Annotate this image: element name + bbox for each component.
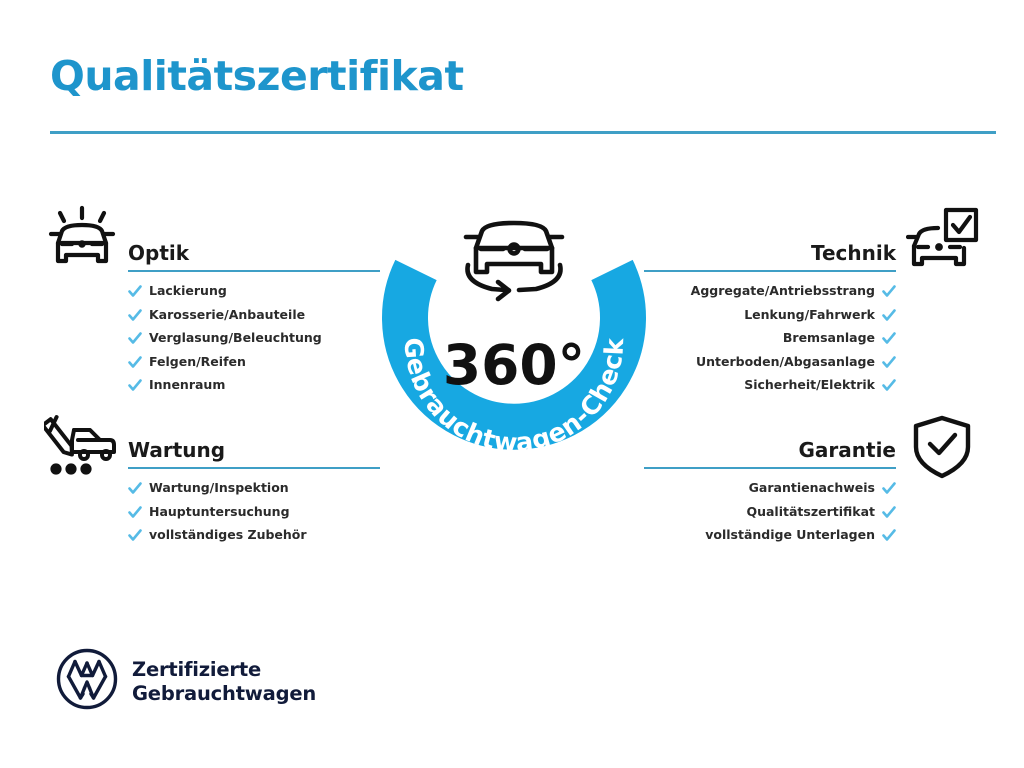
check-icon xyxy=(882,285,896,298)
checklist-item: Bremsanlage xyxy=(644,332,896,345)
checklist-item: vollständiges Zubehör xyxy=(128,529,380,542)
check-icon xyxy=(128,332,142,345)
shield-check-icon xyxy=(910,414,974,485)
check-icon xyxy=(882,482,896,495)
check-icon xyxy=(128,285,142,298)
checklist-item: Garantienachweis xyxy=(644,482,896,495)
qualitaetszertifikat-page: Qualitätszertifikat xyxy=(0,0,1024,768)
checklist-item: Karosserie/Anbauteile xyxy=(128,309,380,322)
check-icon xyxy=(128,482,142,495)
checklist-item: Aggregate/Antriebsstrang xyxy=(644,285,896,298)
checklist-item-label: vollständiges Zubehör xyxy=(149,529,307,542)
header-divider xyxy=(50,131,996,134)
section-heading-technik: Technik xyxy=(644,243,896,264)
checklist-item: Wartung/Inspektion xyxy=(128,482,380,495)
section-optik: Optik LackierungKarosserie/AnbauteileVer… xyxy=(128,243,380,403)
footer-branding: Zertifizierte Gebrauchtwagen xyxy=(56,648,316,715)
checklist-item-label: Garantienachweis xyxy=(749,482,875,495)
section-divider-garantie xyxy=(644,467,896,469)
checklist-item-label: Aggregate/Antriebsstrang xyxy=(691,285,875,298)
footer-line-2: Gebrauchtwagen xyxy=(132,682,316,706)
check-icon xyxy=(128,529,142,542)
section-garantie: Garantie GarantienachweisQualitätszertif… xyxy=(644,440,896,553)
car-checkbox-icon xyxy=(906,204,980,279)
check-icon xyxy=(128,309,142,322)
section-divider-technik xyxy=(644,270,896,272)
footer-text: Zertifizierte Gebrauchtwagen xyxy=(132,658,316,706)
car-rotate-icon xyxy=(466,223,562,299)
checklist-item: Sicherheit/Elektrik xyxy=(644,379,896,392)
car-pencil-icon xyxy=(44,414,118,481)
section-technik: Technik Aggregate/AntriebsstrangLenkung/… xyxy=(644,243,896,403)
check-icon xyxy=(882,379,896,392)
check-icon xyxy=(128,379,142,392)
checklist-item: Felgen/Reifen xyxy=(128,356,380,369)
check-icon xyxy=(882,529,896,542)
checklist-item-label: vollständige Unterlagen xyxy=(705,529,875,542)
checklist-item: Qualitätszertifikat xyxy=(644,506,896,519)
page-title: Qualitätszertifikat xyxy=(50,52,464,100)
checklist-item-label: Unterboden/Abgasanlage xyxy=(696,356,875,369)
checklist-item: Hauptuntersuchung xyxy=(128,506,380,519)
checklist-item-label: Lenkung/Fahrwerk xyxy=(744,309,875,322)
checklist-item-label: Lackierung xyxy=(149,285,227,298)
footer-line-1: Zertifizierte xyxy=(132,658,316,682)
section-items-wartung: Wartung/InspektionHauptuntersuchungvolls… xyxy=(128,482,380,542)
section-items-technik: Aggregate/AntriebsstrangLenkung/Fahrwerk… xyxy=(644,285,896,392)
checklist-item: Unterboden/Abgasanlage xyxy=(644,356,896,369)
check-icon xyxy=(882,506,896,519)
section-wartung: Wartung Wartung/InspektionHauptuntersuch… xyxy=(128,440,380,553)
checklist-item-label: Hauptuntersuchung xyxy=(149,506,290,519)
check-icon xyxy=(128,356,142,369)
checklist-item-label: Verglasung/Beleuchtung xyxy=(149,332,322,345)
section-heading-garantie: Garantie xyxy=(644,440,896,461)
checklist-item-label: Karosserie/Anbauteile xyxy=(149,309,305,322)
section-items-garantie: GarantienachweisQualitätszertifikatvolls… xyxy=(644,482,896,542)
vw-logo xyxy=(56,648,118,715)
check-icon xyxy=(882,309,896,322)
section-divider-optik xyxy=(128,270,380,272)
360-gebrauchtwagen-check-badge: Gebrauchtwagen-Check 360° xyxy=(372,192,656,492)
checklist-item-label: Sicherheit/Elektrik xyxy=(744,379,875,392)
section-divider-wartung xyxy=(128,467,380,469)
checklist-item: Innenraum xyxy=(128,379,380,392)
section-items-optik: LackierungKarosserie/AnbauteileVerglasun… xyxy=(128,285,380,392)
check-icon xyxy=(882,356,896,369)
badge-center-label: 360° xyxy=(443,333,585,397)
checklist-item: Lackierung xyxy=(128,285,380,298)
checklist-item: Verglasung/Beleuchtung xyxy=(128,332,380,345)
check-icon xyxy=(882,332,896,345)
checklist-item-label: Bremsanlage xyxy=(783,332,875,345)
checklist-item-label: Felgen/Reifen xyxy=(149,356,246,369)
checklist-item-label: Qualitätszertifikat xyxy=(746,506,875,519)
check-icon xyxy=(128,506,142,519)
checklist-item-label: Innenraum xyxy=(149,379,225,392)
section-heading-optik: Optik xyxy=(128,243,380,264)
checklist-item: Lenkung/Fahrwerk xyxy=(644,309,896,322)
car-shine-icon xyxy=(46,203,118,278)
section-heading-wartung: Wartung xyxy=(128,440,380,461)
checklist-item-label: Wartung/Inspektion xyxy=(149,482,289,495)
checklist-item: vollständige Unterlagen xyxy=(644,529,896,542)
